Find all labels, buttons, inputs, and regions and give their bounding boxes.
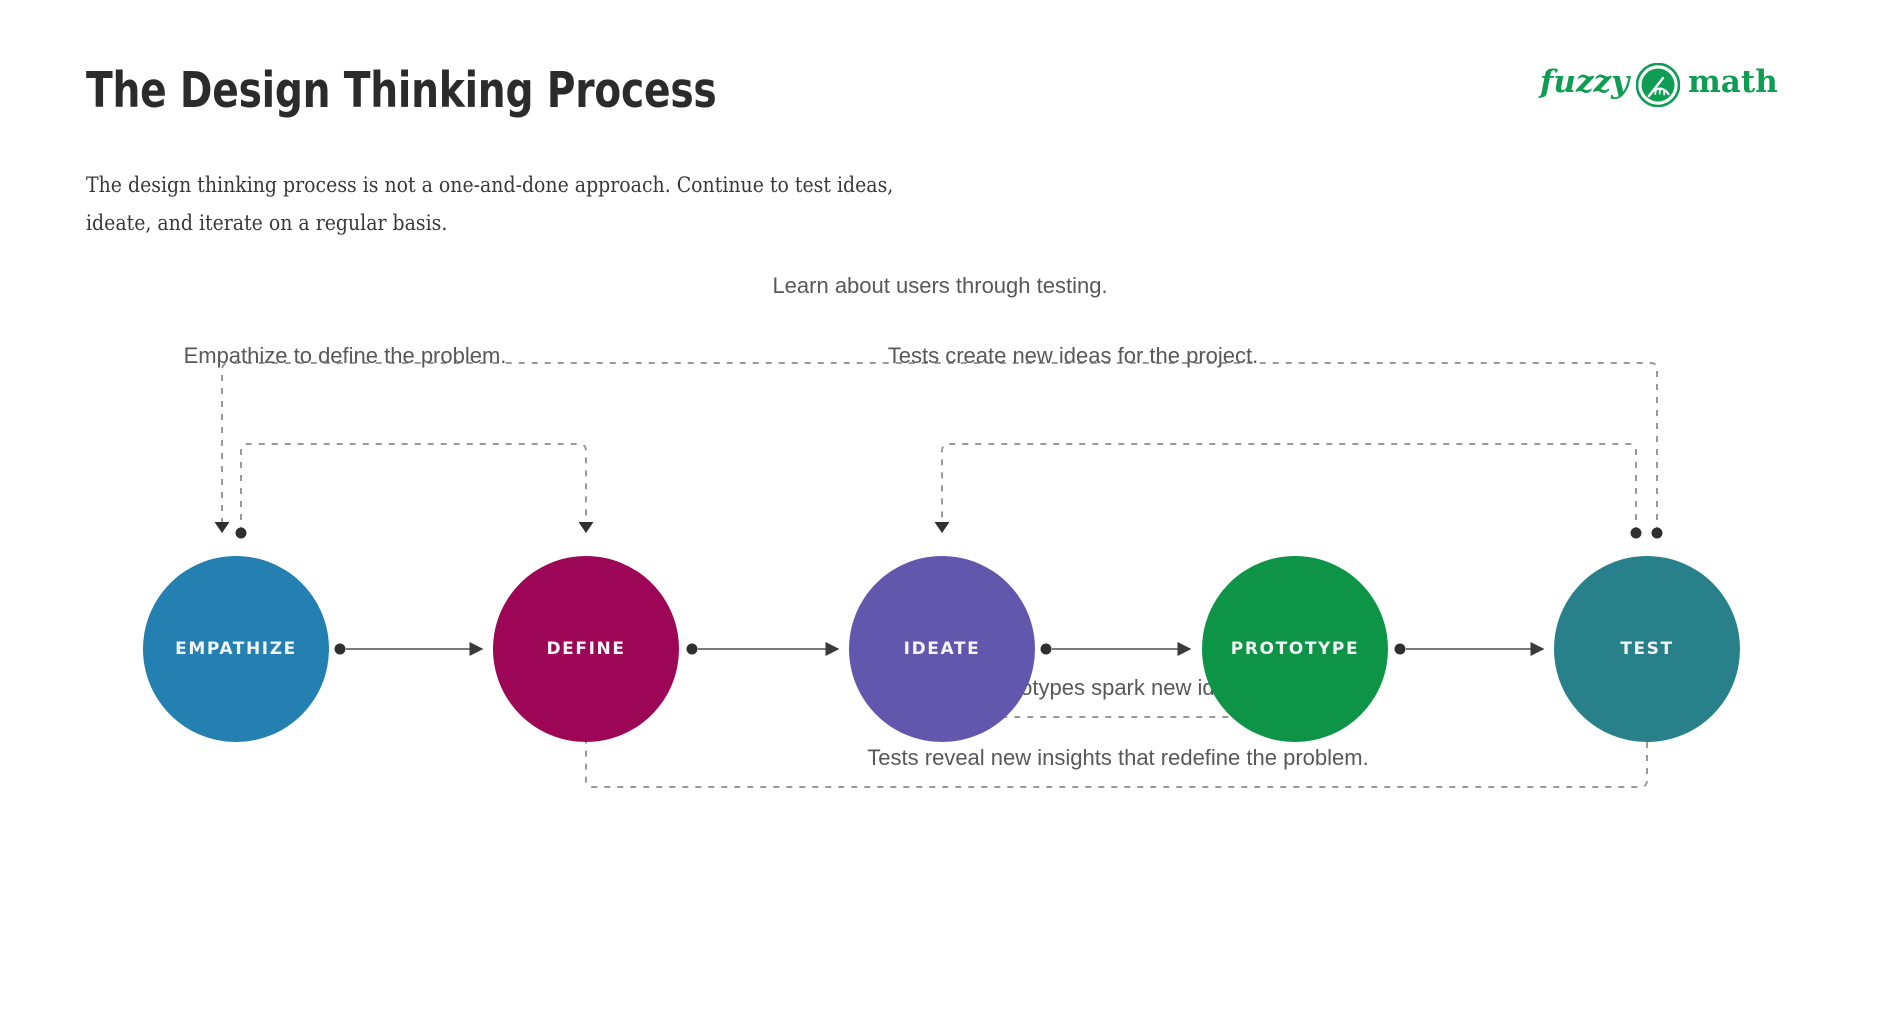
connector-arrowhead — [935, 522, 950, 533]
process-node-prototype[interactable]: PROTOTYPE — [1202, 556, 1388, 742]
process-node-ideate[interactable]: IDEATE — [849, 556, 1035, 742]
connector-start-dot — [1652, 528, 1663, 539]
connector-path — [222, 363, 1657, 533]
flow-arrow-ideate-to-prototype — [1041, 644, 1191, 655]
connector-path — [942, 444, 1636, 533]
node-label: EMPATHIZE — [175, 639, 297, 659]
page-title: The Design Thinking Process — [86, 62, 717, 119]
node-label: IDEATE — [904, 639, 981, 659]
connector-arrowhead — [579, 522, 594, 533]
process-node-define[interactable]: DEFINE — [493, 556, 679, 742]
flow-arrow-start-dot — [1395, 644, 1406, 655]
connector-arrowhead — [215, 522, 230, 533]
flow-arrow-prototype-to-test — [1395, 644, 1544, 655]
process-flow-svg: Learn about users through testing.Empath… — [0, 230, 1880, 1020]
connector-label-tests-reveal-new-insights: Tests reveal new insights that redefine … — [867, 745, 1368, 770]
flow-arrow-start-dot — [1041, 644, 1052, 655]
fuzzy-math-rake-circle-icon — [1636, 63, 1680, 107]
connector-label-tests-create-new-ideas: Tests create new ideas for the project. — [888, 343, 1259, 368]
logo-word-fuzzy: fuzzy — [1540, 64, 1629, 100]
logo-word-math: math — [1688, 64, 1778, 100]
connector-start-dot — [1631, 528, 1642, 539]
node-label: DEFINE — [546, 639, 625, 659]
flow-arrow-define-to-ideate — [687, 644, 839, 655]
connector-label-learn-about-users: Learn about users through testing. — [772, 273, 1107, 298]
flow-arrow-start-dot — [687, 644, 698, 655]
process-node-empathize[interactable]: EMPATHIZE — [143, 556, 329, 742]
slide-canvas: The Design Thinking Process The design t… — [0, 0, 1880, 1020]
flow-arrow-empathize-to-define — [335, 644, 483, 655]
connector-tests-create-new-ideas: Tests create new ideas for the project. — [888, 343, 1642, 539]
design-thinking-process-diagram: Learn about users through testing.Empath… — [0, 230, 1880, 1020]
flow-arrow-start-dot — [335, 644, 346, 655]
connector-label-empathize-to-define: Empathize to define the problem. — [184, 343, 507, 368]
process-node-test[interactable]: TEST — [1554, 556, 1740, 742]
node-label: PROTOTYPE — [1231, 639, 1359, 659]
connector-start-dot — [236, 528, 247, 539]
connector-learn-about-users: Learn about users through testing. — [215, 273, 1663, 539]
connector-path — [241, 444, 586, 533]
node-label: TEST — [1620, 639, 1673, 659]
connector-empathize-to-define: Empathize to define the problem. — [184, 343, 594, 539]
connector-tests-reveal-new-insights: Tests reveal new insights that redefine … — [579, 633, 1653, 788]
fuzzy-math-logo[interactable]: fuzzy math — [1540, 60, 1840, 116]
